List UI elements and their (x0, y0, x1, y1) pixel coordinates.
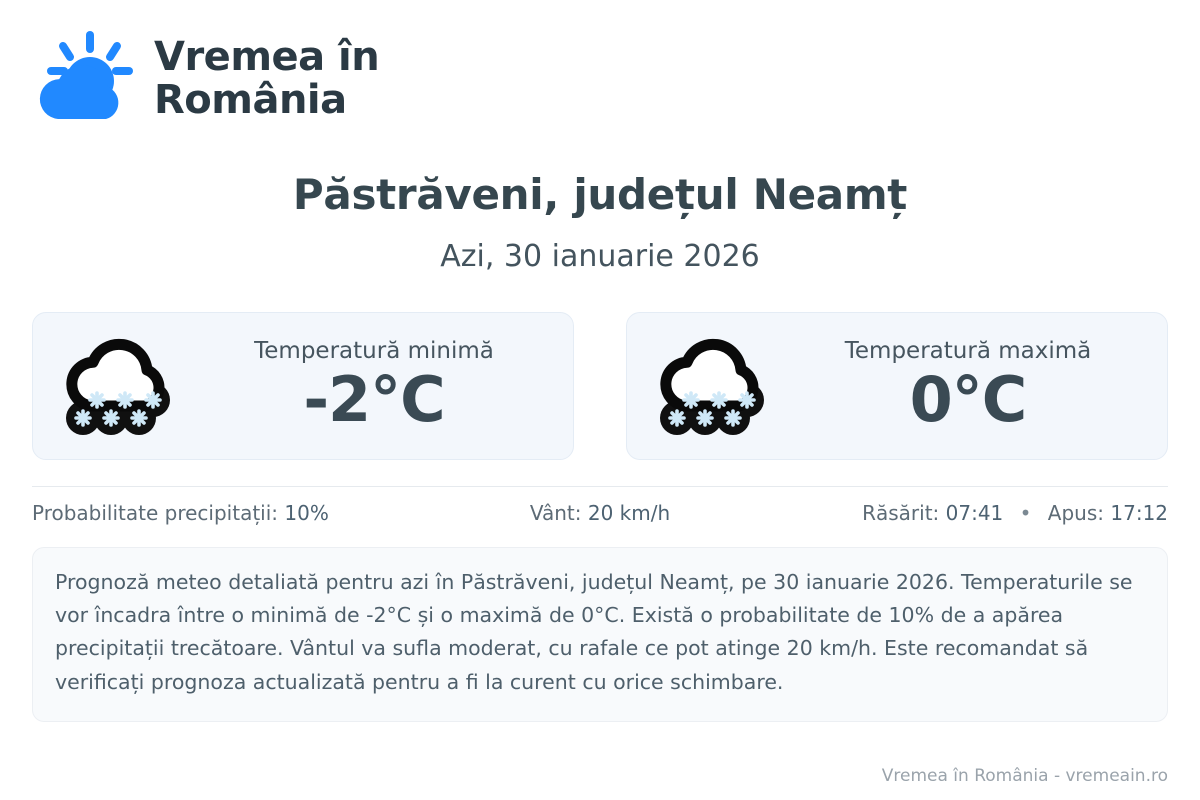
sunrise-label: Răsărit: (862, 501, 939, 525)
footer-credit: Vremea în România - vremeain.ro (882, 766, 1168, 786)
max-temperature-label: Temperatură maximă (793, 338, 1143, 366)
precipitation-value: 10% (284, 501, 328, 525)
sunset-label: Apus: (1048, 501, 1104, 525)
page-date: Azi, 30 ianuarie 2026 (32, 239, 1168, 274)
stat-separator: • (1010, 501, 1042, 525)
wind-label: Vânt: (530, 501, 582, 525)
min-temperature-card: Temperatură minimă -2°C (32, 312, 574, 460)
wind-stat: Vânt: 20 km/h (411, 501, 790, 525)
weather-page: Vremea în România Păstrăveni, județul Ne… (0, 0, 1200, 800)
site-logo[interactable]: Vremea în România (32, 0, 1168, 112)
stats-row: Probabilitate precipitații: 10% Vânt: 20… (32, 487, 1168, 539)
temperature-cards: Temperatură minimă -2°C (32, 312, 1168, 460)
min-temperature-value: -2°C (199, 367, 549, 434)
page-title: Păstrăveni, județul Neamț (32, 170, 1168, 219)
min-temperature-label: Temperatură minimă (199, 338, 549, 366)
sunset-value: 17:12 (1110, 501, 1168, 525)
min-temperature-body: Temperatură minimă -2°C (199, 338, 557, 435)
precipitation-stat: Probabilitate precipitații: 10% (32, 501, 411, 525)
sunrise-value: 07:41 (946, 501, 1004, 525)
wind-value: 20 km/h (588, 501, 670, 525)
site-logo-text: Vremea în România (154, 36, 379, 122)
sun-times-stat: Răsărit: 07:41 • Apus: 17:12 (789, 501, 1168, 525)
precipitation-label: Probabilitate precipitații: (32, 501, 278, 525)
forecast-description: Prognoză meteo detaliată pentru azi în P… (32, 547, 1168, 722)
max-temperature-card: Temperatură maximă 0°C (626, 312, 1168, 460)
max-temperature-body: Temperatură maximă 0°C (793, 338, 1151, 435)
snow-cloud-icon (649, 330, 779, 442)
sun-cloud-icon (32, 27, 136, 131)
max-temperature-value: 0°C (793, 367, 1143, 434)
snow-cloud-icon (55, 330, 185, 442)
